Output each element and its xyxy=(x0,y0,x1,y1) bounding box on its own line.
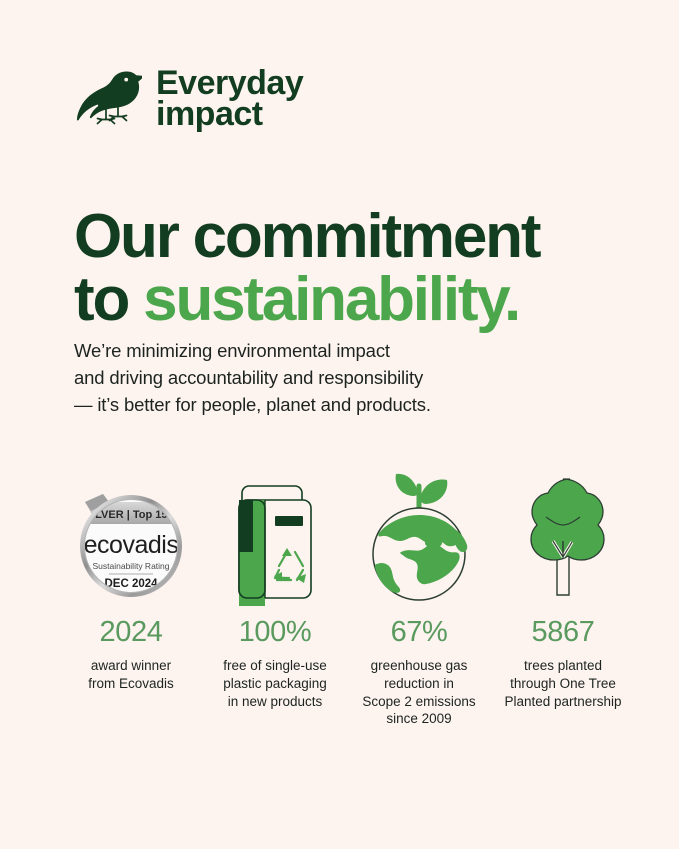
headline-prefix: to xyxy=(74,265,143,334)
medal-subtitle-text: Sustainability Rating xyxy=(92,561,169,571)
medal-brand-text: ecovadis xyxy=(84,531,179,559)
stat-caption: award winner from Ecovadis xyxy=(88,657,174,693)
stat-caption: trees planted through One Tree Planted p… xyxy=(504,657,621,710)
stat-item-trees: 5867 trees planted through One Tree Plan… xyxy=(494,470,632,710)
stat-item-emissions: 67% greenhouse gas reduction in Scope 2 … xyxy=(350,470,488,728)
stat-icon-wrapper xyxy=(506,470,620,610)
stat-caption-line: plastic packaging xyxy=(223,675,327,693)
stat-value: 100% xyxy=(239,618,312,647)
tree-icon xyxy=(506,473,620,607)
stat-caption-line: trees planted xyxy=(504,657,621,675)
stats-row: SILVER | Top 15% ecovadis Sustainability… xyxy=(62,470,632,728)
ecovadis-medal-icon: SILVER | Top 15% ecovadis Sustainability… xyxy=(71,484,191,604)
headline-line-2: to sustainability. xyxy=(74,268,634,331)
stat-caption-line: in new products xyxy=(223,693,327,711)
page-title: Our commitment to sustainability. xyxy=(74,205,634,331)
stat-caption-line: Scope 2 emissions xyxy=(362,693,475,711)
stat-value: 67% xyxy=(391,618,448,647)
intro-line-3: — it’s better for people, planet and pro… xyxy=(74,391,431,418)
headline-line-1: Our commitment xyxy=(74,205,634,268)
stat-caption-line: greenhouse gas xyxy=(362,657,475,675)
stat-caption: free of single-use plastic packaging in … xyxy=(223,657,327,710)
sustainability-infographic: Everyday impact Our commitment to sustai… xyxy=(0,0,679,849)
recyclable-packaging-icon xyxy=(223,478,327,606)
stat-value: 2024 xyxy=(100,618,163,647)
stat-caption-line: Planted partnership xyxy=(504,693,621,711)
stat-caption-line: through One Tree xyxy=(504,675,621,693)
bird-icon xyxy=(76,62,142,136)
stat-caption-line: since 2009 xyxy=(362,710,475,728)
stat-value: 5867 xyxy=(532,618,595,647)
intro-line-1: We’re minimizing environmental impact xyxy=(74,337,431,364)
brand-logo: Everyday impact xyxy=(76,62,303,136)
stat-caption-line: from Ecovadis xyxy=(88,675,174,693)
brand-name-line2: impact xyxy=(156,99,303,130)
brand-name: Everyday impact xyxy=(156,68,303,131)
stat-icon-wrapper: SILVER | Top 15% ecovadis Sustainability… xyxy=(71,474,191,614)
headline-accent: sustainability. xyxy=(143,265,519,334)
globe-sprout-icon xyxy=(357,472,481,608)
stat-icon-wrapper xyxy=(223,472,327,612)
stat-icon-wrapper xyxy=(357,470,481,610)
stat-caption-line: reduction in xyxy=(362,675,475,693)
stat-caption-line: award winner xyxy=(88,657,174,675)
stat-caption: greenhouse gas reduction in Scope 2 emis… xyxy=(362,657,475,728)
stat-item-packaging: 100% free of single-use plastic packagin… xyxy=(206,470,344,710)
intro-line-2: and driving accountability and responsib… xyxy=(74,364,431,391)
intro-paragraph: We’re minimizing environmental impact an… xyxy=(74,337,431,419)
stat-item-ecovadis: SILVER | Top 15% ecovadis Sustainability… xyxy=(62,470,200,693)
stat-caption-line: free of single-use xyxy=(223,657,327,675)
